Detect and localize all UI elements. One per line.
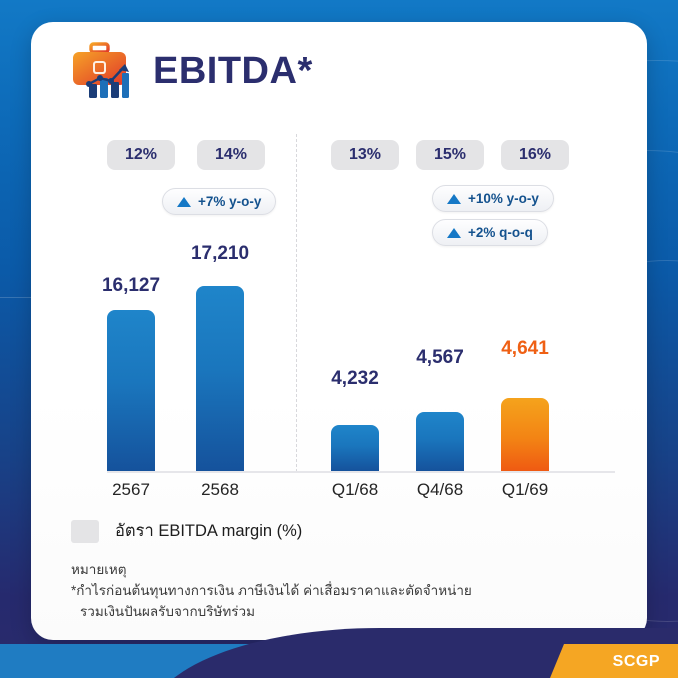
bar-value-q468: 4,567 bbox=[404, 347, 476, 369]
bar-value-2567: 16,127 bbox=[95, 275, 167, 297]
status-badge-margin-q168: 13% bbox=[331, 140, 399, 170]
bar-value-q169: 4,641 bbox=[489, 338, 561, 360]
growth-chip-label: +10% y-o-y bbox=[468, 191, 539, 206]
slide-canvas: EBITDA* 12% 14% 13% 15% 16% +7% y-o-y +1… bbox=[0, 0, 678, 678]
legend-label-margin: อัตรา EBITDA margin (%) bbox=[115, 518, 302, 544]
x-axis-label-q169: Q1/69 bbox=[489, 480, 561, 500]
legend-swatch-margin bbox=[71, 520, 99, 543]
x-axis-label-2567: 2567 bbox=[95, 480, 167, 500]
bar-2568 bbox=[196, 286, 244, 471]
x-axis-label-q168: Q1/68 bbox=[319, 480, 391, 500]
footnote: หมายเหตุ *กำไรก่อนต้นทุนทางการเงิน ภาษีเ… bbox=[71, 560, 611, 623]
growth-chip-qoq-quarter: +2% q-o-q bbox=[432, 219, 548, 246]
bar-q169 bbox=[501, 398, 549, 471]
bar-value-q168: 4,232 bbox=[319, 368, 391, 390]
chart-baseline bbox=[107, 471, 615, 473]
growth-chip-yoy-quarter: +10% y-o-y bbox=[432, 185, 554, 212]
x-axis-label-2568: 2568 bbox=[184, 480, 256, 500]
growth-chip-yoy-annual: +7% y-o-y bbox=[162, 188, 276, 215]
status-badge-margin-2568: 14% bbox=[197, 140, 265, 170]
chart-plot-area: 12% 14% 13% 15% 16% +7% y-o-y +10% y-o-y… bbox=[31, 22, 647, 640]
up-triangle-icon bbox=[447, 194, 461, 204]
growth-chip-label: +2% q-o-q bbox=[468, 225, 533, 240]
footnote-line-2: *กำไรก่อนต้นทุนทางการเงิน ภาษีเงินได้ ค่… bbox=[71, 581, 611, 602]
status-badge-margin-q169: 16% bbox=[501, 140, 569, 170]
bar-value-2568: 17,210 bbox=[184, 243, 256, 265]
content-card: EBITDA* 12% 14% 13% 15% 16% +7% y-o-y +1… bbox=[31, 22, 647, 640]
bar-q168 bbox=[331, 425, 379, 471]
growth-chip-label: +7% y-o-y bbox=[198, 194, 261, 209]
footnote-line-3: รวมเงินปันผลรับจากบริษัทร่วม bbox=[71, 602, 611, 623]
x-axis-label-q468: Q4/68 bbox=[404, 480, 476, 500]
chart-legend: อัตรา EBITDA margin (%) bbox=[71, 518, 302, 544]
status-badge-margin-q468: 15% bbox=[416, 140, 484, 170]
bar-q468 bbox=[416, 412, 464, 471]
footnote-line-1: หมายเหตุ bbox=[71, 560, 611, 581]
up-triangle-icon bbox=[177, 197, 191, 207]
bar-2567 bbox=[107, 310, 155, 471]
status-badge-margin-2567: 12% bbox=[107, 140, 175, 170]
up-triangle-icon bbox=[447, 228, 461, 238]
brand-logo-scgp: SCGP bbox=[613, 653, 660, 671]
